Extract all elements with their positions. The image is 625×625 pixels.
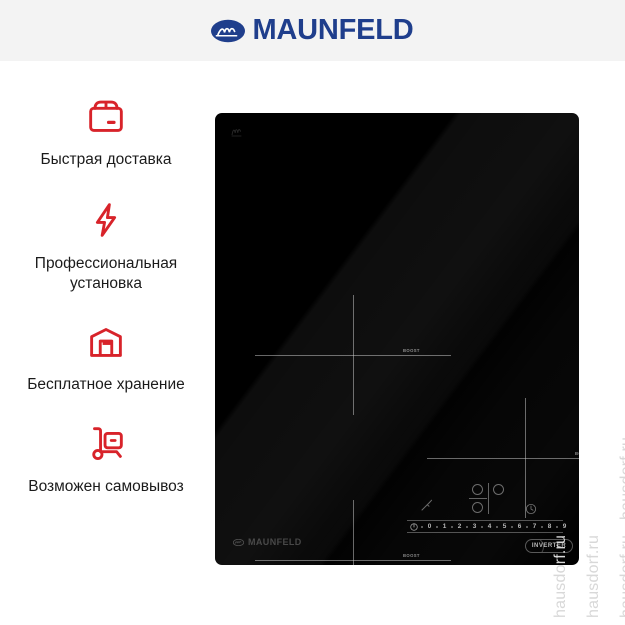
feature-label-delivery: Быстрая доставка (40, 150, 171, 170)
zone-circle-front-left[interactable] (472, 502, 483, 513)
feature-item-installation: Профессиональная установка (0, 197, 212, 294)
slider-digit-4[interactable]: 4 (483, 523, 496, 530)
feature-label-storage: Бесплатное хранение (27, 375, 184, 395)
feature-item-storage: Бесплатное хранение (0, 318, 212, 395)
product-brand-stamp: MAUNFELD (233, 537, 302, 547)
slider-digit-5[interactable]: 5 (498, 523, 511, 530)
brand-logo: MAUNFELD (211, 16, 413, 45)
product-promo-page: MAUNFELD Быстрая доставка Профессиональн… (0, 0, 625, 625)
page-header: MAUNFELD (0, 0, 625, 61)
box-package-icon (83, 93, 129, 139)
maunfeld-glass-logo-icon (233, 539, 244, 546)
brand-name: MAUNFELD (252, 16, 413, 45)
slider-digit-8[interactable]: 8 (543, 523, 556, 530)
timer-clock-icon[interactable] (525, 503, 537, 515)
key-lock-icon[interactable] (420, 498, 434, 512)
watermark: hausdorf.ru (618, 535, 625, 618)
warehouse-icon (83, 318, 129, 364)
control-panel: 0 1 2 3 4 5 6 7 8 9 (215, 113, 579, 565)
slider-digit-0[interactable]: 0 (423, 523, 436, 530)
feature-item-pickup: Возможен самовывоз (0, 420, 212, 497)
slider-digit-7[interactable]: 7 (528, 523, 541, 530)
maunfeld-ellipse-logo-icon (211, 19, 245, 43)
zone-circle-rear-left[interactable] (472, 484, 483, 495)
slider-digit-2[interactable]: 2 (453, 523, 466, 530)
inverter-swoosh-icon (525, 539, 544, 553)
lightning-bolt-icon (83, 197, 129, 243)
product-brand-name: MAUNFELD (248, 537, 302, 547)
slider-digit-3[interactable]: 3 (468, 523, 481, 530)
zone-circle-rear-right[interactable] (493, 484, 504, 495)
slider-digit-1[interactable]: 1 (438, 523, 451, 530)
watermark: hausdorf.ru (552, 535, 570, 618)
features-sidebar: Быстрая доставка Профессиональная устано… (0, 61, 212, 625)
zone-grid-divider-vertical (488, 483, 489, 514)
feature-label-installation: Профессиональная установка (11, 254, 201, 294)
slider-digit-9[interactable]: 9 (558, 523, 571, 530)
zone-grid-divider-horizontal (469, 498, 487, 499)
power-level-slider[interactable]: 0 1 2 3 4 5 6 7 8 9 (407, 520, 563, 533)
watermark: hausdorf.ru (618, 437, 625, 520)
induction-cooktop-product: BOOST BOOST BOOST (215, 113, 579, 565)
slider-digit-6[interactable]: 6 (513, 523, 526, 530)
power-icon[interactable] (410, 523, 418, 531)
four-zone-grid-icon[interactable] (469, 483, 509, 515)
feature-label-pickup: Возможен самовывоз (28, 477, 183, 497)
feature-item-delivery: Быстрая доставка (0, 93, 212, 170)
watermark: hausdorf.ru (585, 535, 603, 618)
hand-truck-icon (83, 420, 129, 466)
